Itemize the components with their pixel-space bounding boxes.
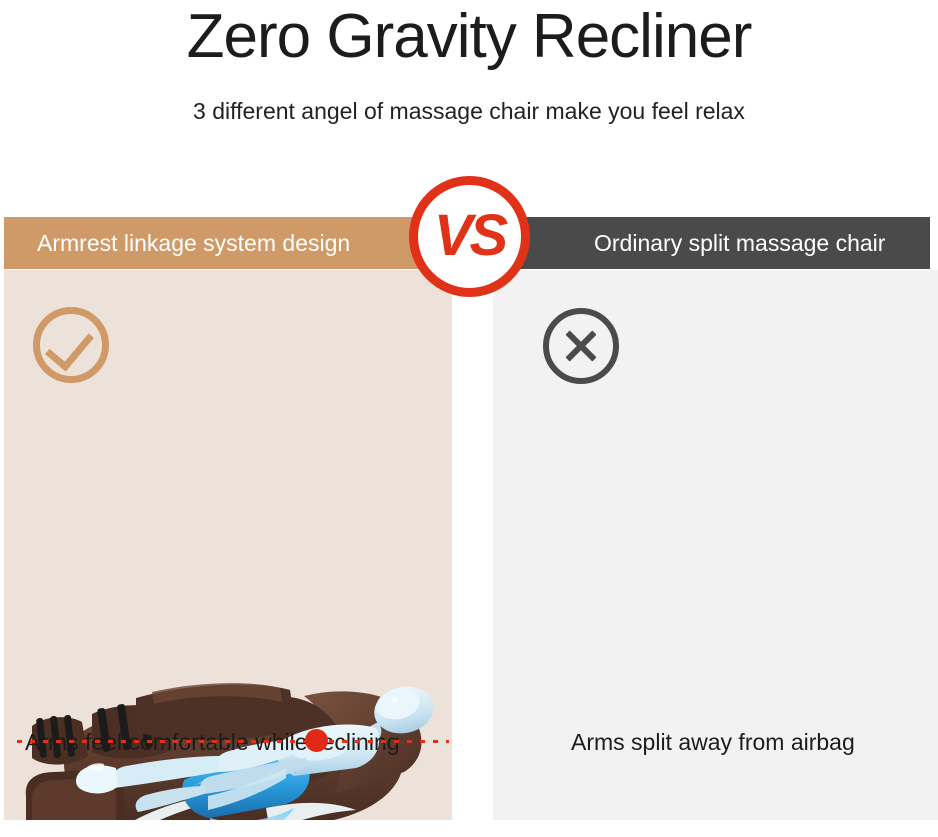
panel-header-bar-left: Armrest linkage system design xyxy=(4,217,452,269)
panel-header-label-right: Ordinary split massage chair xyxy=(594,217,885,269)
x-circle-icon xyxy=(543,308,619,384)
panel-header-label-left: Armrest linkage system design xyxy=(37,217,350,269)
caption-right: Arms split away from airbag xyxy=(571,729,855,756)
panel-header-bar-right: Ordinary split massage chair xyxy=(493,217,930,269)
alignment-line-left xyxy=(17,740,449,743)
check-circle-icon xyxy=(33,307,109,383)
shoulder-marker-left xyxy=(305,729,328,752)
comparison-section: Armrest linkage system design Ordinary s… xyxy=(0,0,938,837)
check-mark-glyph xyxy=(45,320,94,371)
vs-badge: VS xyxy=(409,176,530,297)
vs-badge-label: VS xyxy=(434,207,505,265)
